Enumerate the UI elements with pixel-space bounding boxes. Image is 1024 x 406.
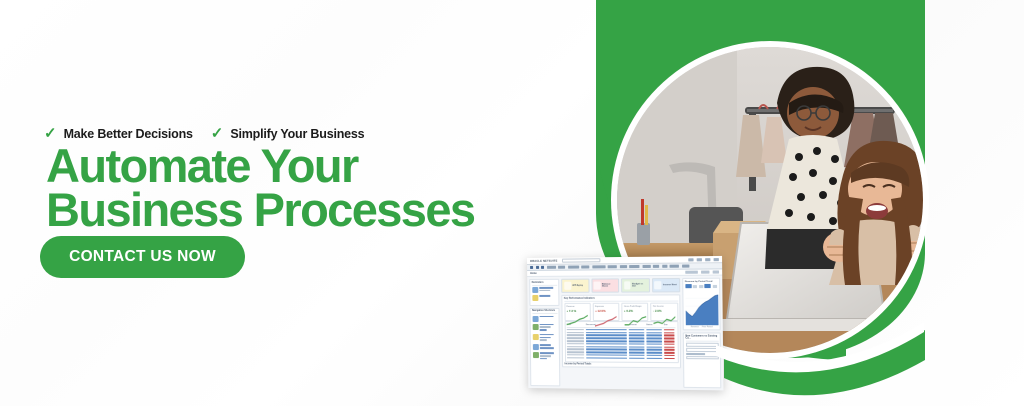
menu-item[interactable] <box>642 265 650 268</box>
tile-label: Income Stmt <box>663 284 677 286</box>
revenue-area-chart <box>685 290 718 325</box>
nav-title: Navigation Shortcuts <box>532 310 557 314</box>
table-row[interactable] <box>567 348 676 350</box>
sidebar-item[interactable] <box>532 352 557 361</box>
kpi-label: Gross Profit Margin <box>624 305 646 307</box>
menu-item[interactable] <box>682 265 689 268</box>
kpi-list: Revenue + 7.3 % Expenses + 12.5% <box>564 303 678 322</box>
file-icon <box>624 281 631 289</box>
table-row[interactable] <box>567 357 676 359</box>
kpi-value: + 12.5% <box>595 308 617 312</box>
reminder-text <box>539 287 557 293</box>
help-icon[interactable] <box>705 258 710 261</box>
tile-budget-vs-actual[interactable]: Budget vs Act <box>621 278 649 292</box>
sidebar-item[interactable] <box>532 334 557 342</box>
kpi-card[interactable]: Revenue + 7.3 % <box>564 303 591 322</box>
menu-item[interactable] <box>653 265 659 268</box>
table-row[interactable] <box>567 346 676 348</box>
sparkline <box>595 313 617 327</box>
tile-label: Budget vs Act <box>632 283 647 287</box>
menu-item[interactable] <box>581 265 589 268</box>
reminder-text <box>539 295 557 301</box>
revenue-trend-panel: Revenue by Period Trend <box>682 278 721 331</box>
kpi-label: Net Income <box>653 305 675 307</box>
kpi-label: Revenue <box>566 305 587 307</box>
sparkline <box>624 313 646 327</box>
menu-item[interactable] <box>608 265 617 268</box>
table-row[interactable] <box>567 329 676 331</box>
kpi-title: Key Performance Indicators <box>564 297 678 301</box>
menu-item[interactable] <box>568 266 579 269</box>
navigation-shortcuts-panel: Navigation Shortcuts <box>530 307 561 386</box>
sidebar-item[interactable] <box>532 315 557 321</box>
folder-icon <box>532 334 538 340</box>
erp-dashboard-screenshot: ORACLE NETSUITE <box>527 256 723 390</box>
chart-icon-option[interactable] <box>712 284 716 287</box>
kpi-card[interactable]: Net Income - 2.9% <box>650 303 678 322</box>
leaf-icon <box>532 324 538 330</box>
kpi-value: + 6.2% <box>624 308 646 312</box>
reminder-item[interactable] <box>532 287 557 293</box>
contact-us-button[interactable]: CONTACT US NOW <box>40 236 245 278</box>
chart-legend: Revenue Prior Period <box>685 326 718 328</box>
sales-icon <box>532 315 538 321</box>
kpi-value: - 2.9% <box>653 308 675 312</box>
dashboard-sidebar: Reminders Navigation <box>529 279 560 387</box>
dashboard-main: A/R Aging Balance Sheet Budget vs Act In… <box>561 278 681 388</box>
filter-field[interactable] <box>686 343 719 347</box>
chart-controls <box>685 284 718 288</box>
tile-label: A/R Aging <box>572 285 583 287</box>
menu-item[interactable] <box>592 265 605 268</box>
kpi-value: + 7.3 % <box>567 308 589 312</box>
page-title: Automate Your Business Processes <box>46 144 474 231</box>
hero-banner: ✓ Make Better Decisions ✓ Simplify Your … <box>0 0 1024 406</box>
gear-icon[interactable] <box>714 258 719 261</box>
shortcut-tiles: A/R Aging Balance Sheet Budget vs Act In… <box>561 278 680 293</box>
table-row[interactable] <box>567 334 676 336</box>
viewing-period-link[interactable] <box>685 271 698 274</box>
reminder-item[interactable] <box>532 295 557 301</box>
menu-item[interactable] <box>662 265 667 268</box>
chart-tab-primary[interactable] <box>685 284 691 288</box>
table-row[interactable] <box>567 332 676 334</box>
layout-link[interactable] <box>713 271 719 274</box>
table-row[interactable] <box>567 337 676 339</box>
new-customers-panel: New Customers vs Existing Cu... <box>683 332 722 388</box>
breadcrumb-actions <box>685 271 719 274</box>
menu-grid-icon[interactable] <box>536 266 539 269</box>
filter-field[interactable] <box>686 348 719 352</box>
tile-ar-aging[interactable]: A/R Aging <box>561 279 589 293</box>
reminders-panel: Reminders <box>529 279 559 306</box>
menu-item[interactable] <box>670 265 679 268</box>
bell-icon[interactable] <box>697 258 702 261</box>
tile-income-statement[interactable]: Income Stmt <box>651 278 680 293</box>
menu-item[interactable] <box>629 265 639 268</box>
chart-icon-option[interactable] <box>699 284 703 287</box>
dashboard-body: Reminders Navigation <box>527 276 723 391</box>
kpi-card[interactable]: Expenses + 12.5% <box>592 303 619 322</box>
menu-item[interactable] <box>547 266 556 269</box>
reminders-title: Reminders <box>532 281 557 285</box>
transactions-table: Date Document Amount Status Due <box>564 321 678 363</box>
chart-tab-secondary[interactable] <box>704 284 710 288</box>
kpi-label: Expenses <box>595 305 617 307</box>
support-icon <box>532 352 538 358</box>
breadcrumb-label: Home <box>530 272 537 275</box>
sparkline <box>653 313 675 327</box>
tile-label: Balance Sheet <box>602 283 617 287</box>
dashboard-logo: ORACLE NETSUITE <box>530 259 557 262</box>
personalize-link[interactable] <box>701 271 709 274</box>
legend-prior: Prior Period <box>702 326 713 328</box>
tile-balance-sheet[interactable]: Balance Sheet <box>591 278 619 292</box>
dashboard-right-column: Revenue by Period Trend <box>682 278 721 389</box>
legend-revenue: Revenue <box>691 326 699 328</box>
sparkline <box>567 313 589 326</box>
dashboard-search-input[interactable] <box>561 258 599 262</box>
menu-item[interactable] <box>619 265 626 268</box>
orders-icon <box>532 295 538 301</box>
report-icon <box>532 344 538 350</box>
menu-list-icon[interactable] <box>541 266 544 269</box>
menu-home-icon[interactable] <box>530 266 533 269</box>
sidebar-item[interactable] <box>532 344 557 350</box>
table-footer: Income by Period Totals <box>565 362 679 366</box>
chart-title: Revenue by Period Trend <box>685 280 718 282</box>
person-icon <box>564 282 571 290</box>
secondary-panel-title: New Customers vs Existing Cu... <box>685 335 718 341</box>
menu-item[interactable] <box>558 266 565 269</box>
file-icon <box>654 281 661 289</box>
sidebar-item[interactable] <box>532 324 557 332</box>
table-row[interactable] <box>567 340 676 342</box>
filter-field[interactable] <box>686 356 719 360</box>
chart-icon-option[interactable] <box>693 285 697 288</box>
kpi-card[interactable]: Gross Profit Margin + 6.2% <box>621 303 648 322</box>
table-row[interactable] <box>567 343 676 345</box>
user-icon[interactable] <box>688 258 693 261</box>
document-icon <box>532 287 538 293</box>
dashboard-top-icons <box>688 258 719 261</box>
kpi-panel: Key Performance Indicators Revenue + 7.3… <box>561 294 681 368</box>
chart-icon <box>594 282 601 290</box>
